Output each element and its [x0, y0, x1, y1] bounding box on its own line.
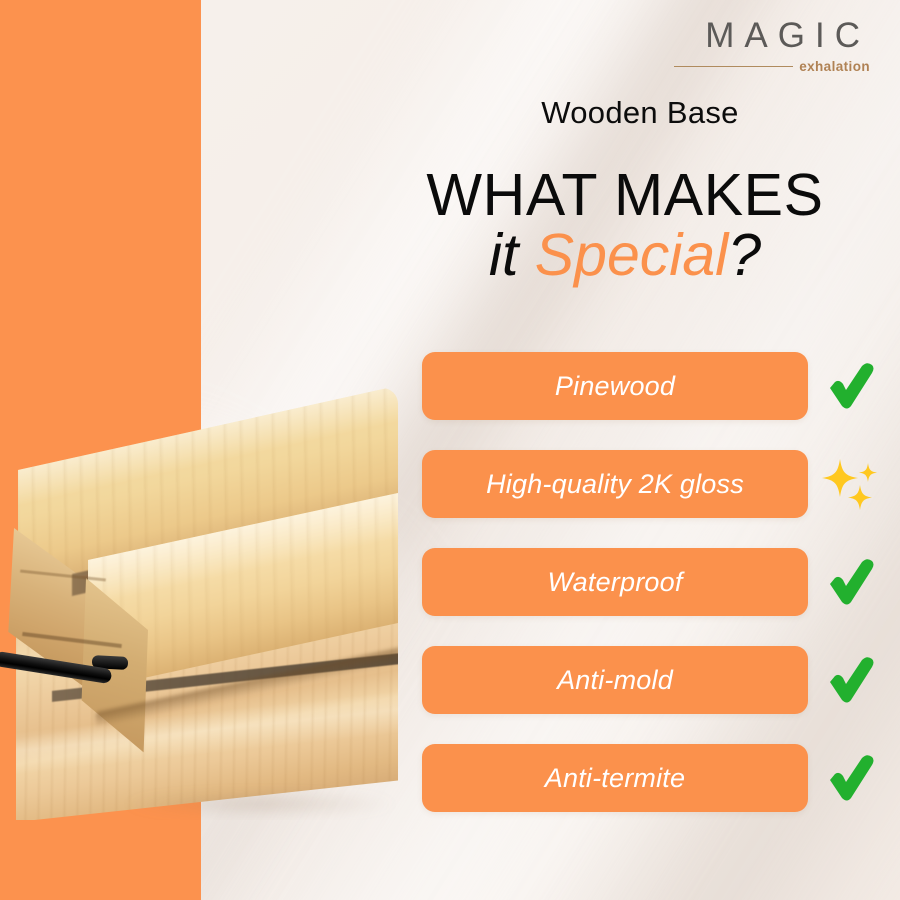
feature-pill-anti-mold[interactable]: Anti-mold: [422, 646, 808, 714]
feature-pill-label: Anti-termite: [545, 763, 685, 794]
promo-graphic: MAGIC exhalation Wooden Base WHAT MAKES …: [0, 0, 900, 900]
check-icon: [820, 355, 882, 417]
headline-line-1: WHAT MAKES: [380, 165, 870, 225]
sparkles-icon: [820, 453, 882, 515]
product-image-frame: [0, 388, 398, 820]
feature-pill-waterproof[interactable]: Waterproof: [422, 548, 808, 616]
brand-tagline: exhalation: [799, 59, 870, 74]
feature-item: Pinewood: [422, 352, 842, 420]
product-drop-shadow: [120, 792, 398, 816]
feature-pill-label: High-quality 2K gloss: [486, 469, 744, 500]
feature-item: Anti-mold: [422, 646, 842, 714]
check-icon: [820, 649, 882, 711]
feature-pill-label: Anti-mold: [557, 665, 673, 696]
headline-it: it: [489, 222, 535, 288]
headline-question-mark: ?: [728, 222, 761, 288]
check-icon: [820, 551, 882, 613]
feature-pill-label: Waterproof: [547, 567, 682, 598]
brand-name: MAGIC: [670, 18, 870, 53]
feature-item: High-quality 2K gloss: [422, 450, 842, 518]
feature-pill-high-quality-2k-gloss[interactable]: High-quality 2K gloss: [422, 450, 808, 518]
feature-item: Anti-termite: [422, 744, 842, 812]
logo-divider-rule: [674, 66, 793, 68]
brand-tagline-row: exhalation: [670, 59, 870, 74]
product-image: [0, 388, 398, 820]
feature-pill-pinewood[interactable]: Pinewood: [422, 352, 808, 420]
feature-pill-label: Pinewood: [555, 371, 675, 402]
feature-pill-anti-termite[interactable]: Anti-termite: [422, 744, 808, 812]
eyebrow-title: Wooden Base: [410, 95, 870, 131]
brand-logo: MAGIC exhalation: [670, 18, 870, 74]
feature-item: Waterproof: [422, 548, 842, 616]
feature-list: Pinewood High-quality 2K gloss: [422, 352, 842, 842]
check-icon: [820, 747, 882, 809]
headline-special: Special: [535, 222, 729, 288]
headline-line-2: it Special?: [380, 225, 870, 287]
